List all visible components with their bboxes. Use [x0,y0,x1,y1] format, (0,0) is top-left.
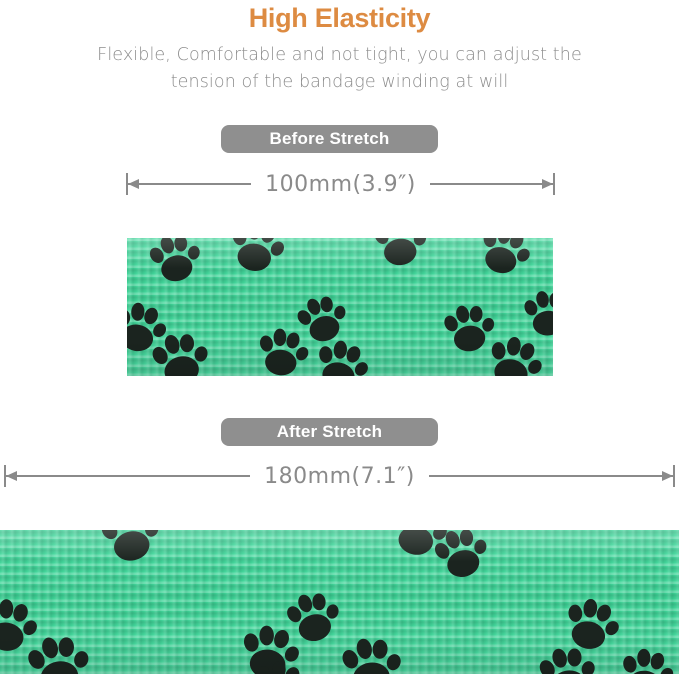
paw-print-icon [241,647,316,674]
paw-print-icon [90,530,168,572]
paw-print-icon [476,323,551,376]
paw-print-icon [286,283,357,354]
page-title: High Elasticity [0,0,679,34]
dimension-line-after-stretch: 180mm(7.1″) [4,460,675,492]
dimension-arrow-right [430,173,553,195]
paw-print-icon [141,320,217,376]
page-subtitle: Flexible, Comfortable and not tight, you… [40,34,640,96]
badge-before-stretch: Before Stretch [221,125,438,153]
dimension-arrow-left [128,173,251,195]
bandage-shading [0,530,679,674]
paw-print-icon [221,238,291,280]
paw-print-icon [366,238,432,273]
paw-print-icon [233,615,306,674]
dimension-cap-right [673,465,675,487]
paw-print-icon [468,238,540,285]
paw-print-icon [423,530,497,589]
paw-print-layer-before [127,238,553,376]
page-subtitle-line-1: Flexible, Comfortable and not tight, you… [40,42,640,69]
paw-print-icon [127,291,174,361]
bandage-weave-texture [127,238,553,376]
paw-print-icon [16,622,97,674]
bandage-weave-texture [0,530,679,674]
paw-print-icon [554,586,628,660]
paw-print-icon [0,588,44,660]
paw-print-icon [435,294,501,360]
dimension-cap-right [553,173,555,195]
paw-print-icon [517,282,553,343]
dimension-label-after-stretch: 180mm(7.1″) [250,464,429,489]
dimension-arrow-right [429,465,673,487]
paw-print-icon [276,580,349,653]
paw-print-icon [139,238,209,292]
dimension-line-before-stretch: 100mm(3.9″) [126,168,555,200]
page-subtitle-line-2: tension of the bandage winding at will [40,69,640,96]
paw-print-icon [305,328,376,376]
dimension-label-before-stretch: 100mm(3.9″) [251,172,430,197]
paw-print-icon [529,635,603,674]
bandage-shading [127,238,553,376]
header-block: High Elasticity Flexible, Comfortable an… [0,0,679,96]
paw-print-icon [333,627,408,674]
paw-print-icon [250,319,314,376]
infographic-page: High Elasticity Flexible, Comfortable an… [0,0,679,674]
dimension-arrow-left [6,465,250,487]
paw-print-icon [381,530,455,565]
bandage-strip-before-stretch [127,238,553,376]
bandage-strip-after-stretch [0,530,679,674]
paw-print-icon [613,639,679,674]
paw-print-layer-after [0,530,679,674]
badge-after-stretch: After Stretch [221,418,438,446]
